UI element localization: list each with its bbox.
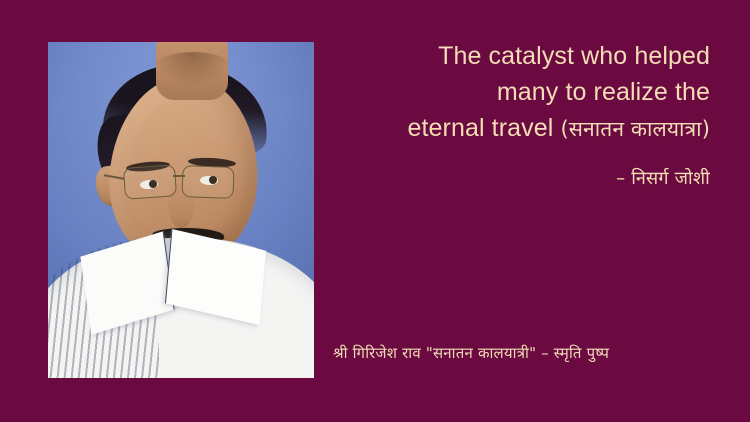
quote-line-3: eternal travel (सनातन कालयात्रा) xyxy=(290,110,710,147)
quote-line-3-devanagari: (सनातन कालयात्रा) xyxy=(560,117,710,141)
nose xyxy=(168,184,194,228)
quote-line-3-english: eternal travel xyxy=(408,114,561,142)
quote-line-2: many to realize the xyxy=(290,74,710,110)
portrait-photo xyxy=(48,42,314,378)
shirt xyxy=(48,238,314,378)
quote-attribution: – निसर्ग जोशी xyxy=(290,166,710,190)
memorial-quote-card: The catalyst who helped many to realize … xyxy=(0,0,750,422)
quote-line-1: The catalyst who helped xyxy=(290,38,710,74)
neck-shadow xyxy=(152,52,234,86)
glasses-bridge xyxy=(173,175,185,177)
memorial-caption: श्री गिरिजेश राव "सनातन कालयात्री" – स्म… xyxy=(333,343,609,363)
quote-block: The catalyst who helped many to realize … xyxy=(290,38,710,147)
